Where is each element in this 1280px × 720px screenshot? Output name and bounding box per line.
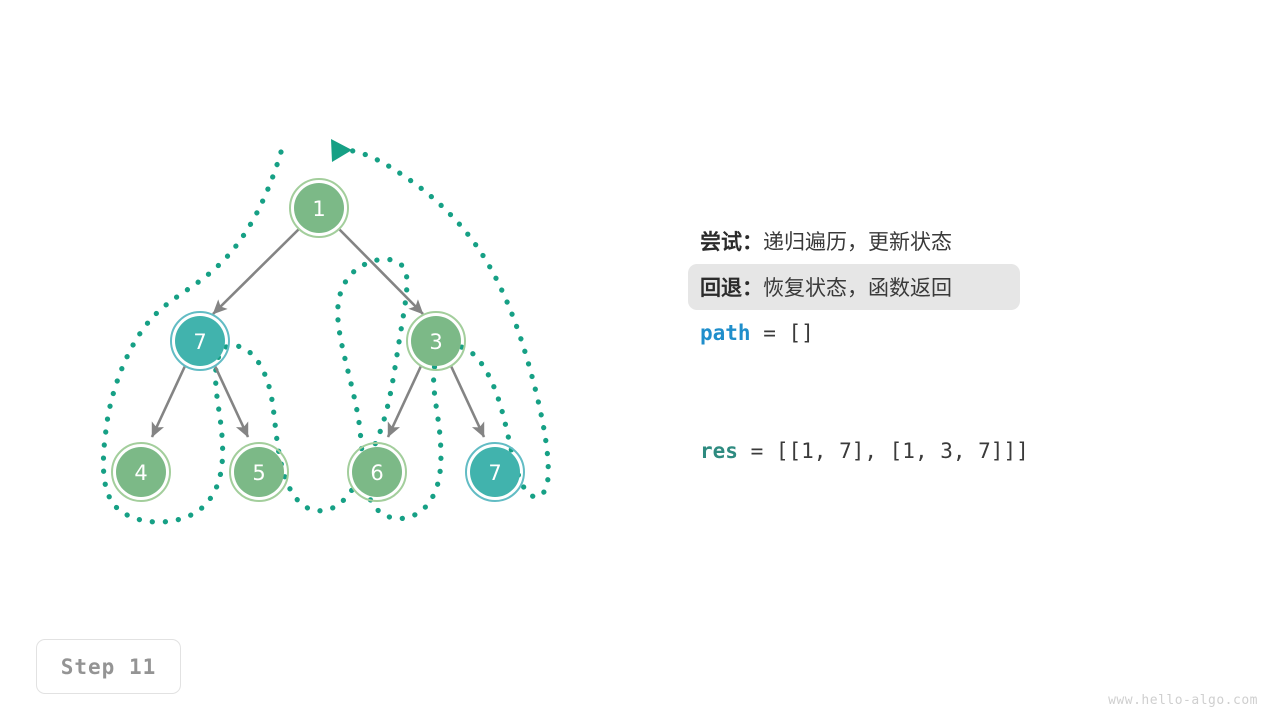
tree-node-n3[interactable]: 3 bbox=[407, 312, 465, 370]
return-arrow-icon bbox=[331, 139, 352, 162]
site-watermark: www.hello-algo.com bbox=[1108, 693, 1258, 708]
path-equals: = bbox=[751, 321, 789, 345]
edge-3-6 bbox=[388, 366, 421, 437]
edge-7-5 bbox=[215, 366, 248, 437]
res-variable-name: res bbox=[700, 439, 738, 463]
tree-node-n7l[interactable]: 7 bbox=[171, 312, 229, 370]
res-equals: = bbox=[738, 439, 776, 463]
tree-node-n5[interactable]: 5 bbox=[230, 443, 288, 501]
tree-node-n4[interactable]: 4 bbox=[112, 443, 170, 501]
tree-node-label: 6 bbox=[370, 461, 383, 485]
edge-3-7 bbox=[451, 366, 484, 437]
tree-node-label: 3 bbox=[429, 330, 442, 354]
binary-tree-diagram: 1 7 3 4 5 bbox=[0, 0, 640, 600]
path-variable-line: path = [] bbox=[700, 310, 1240, 356]
tree-node-label: 7 bbox=[193, 330, 206, 354]
illustration-canvas: 1 7 3 4 5 bbox=[0, 0, 1280, 720]
path-variable-name: path bbox=[700, 321, 751, 345]
step-badge: Step 11 bbox=[36, 639, 181, 694]
tree-node-label: 1 bbox=[312, 197, 325, 221]
step-description-try: 尝试：递归遍历，更新状态 bbox=[700, 218, 1240, 264]
tree-node-label: 5 bbox=[252, 461, 265, 485]
step-description-backtrack: 回退：恢复状态，函数返回 bbox=[688, 264, 1020, 310]
backtrack-label: 回退： bbox=[700, 272, 763, 302]
tree-node-label: 4 bbox=[134, 461, 147, 485]
tree-node-n6[interactable]: 6 bbox=[348, 443, 406, 501]
tree-node-n1[interactable]: 1 bbox=[290, 179, 348, 237]
panel-spacer bbox=[700, 356, 1240, 428]
path-variable-value: [] bbox=[789, 321, 814, 345]
tree-nodes: 1 7 3 4 5 bbox=[112, 179, 524, 501]
tree-node-label: 7 bbox=[488, 461, 501, 485]
explanation-panel: 尝试：递归遍历，更新状态 回退：恢复状态，函数返回 path = [] res … bbox=[700, 218, 1240, 474]
edge-7-4 bbox=[152, 366, 185, 437]
edge-1-7 bbox=[213, 229, 299, 314]
try-label: 尝试： bbox=[700, 226, 763, 256]
try-text: 递归遍历，更新状态 bbox=[763, 226, 952, 256]
res-variable-line: res = [[1, 7], [1, 3, 7]]] bbox=[700, 428, 1240, 474]
res-variable-value: [[1, 7], [1, 3, 7]]] bbox=[776, 439, 1029, 463]
tree-node-n7r[interactable]: 7 bbox=[466, 443, 524, 501]
backtrack-text: 恢复状态，函数返回 bbox=[763, 272, 952, 302]
